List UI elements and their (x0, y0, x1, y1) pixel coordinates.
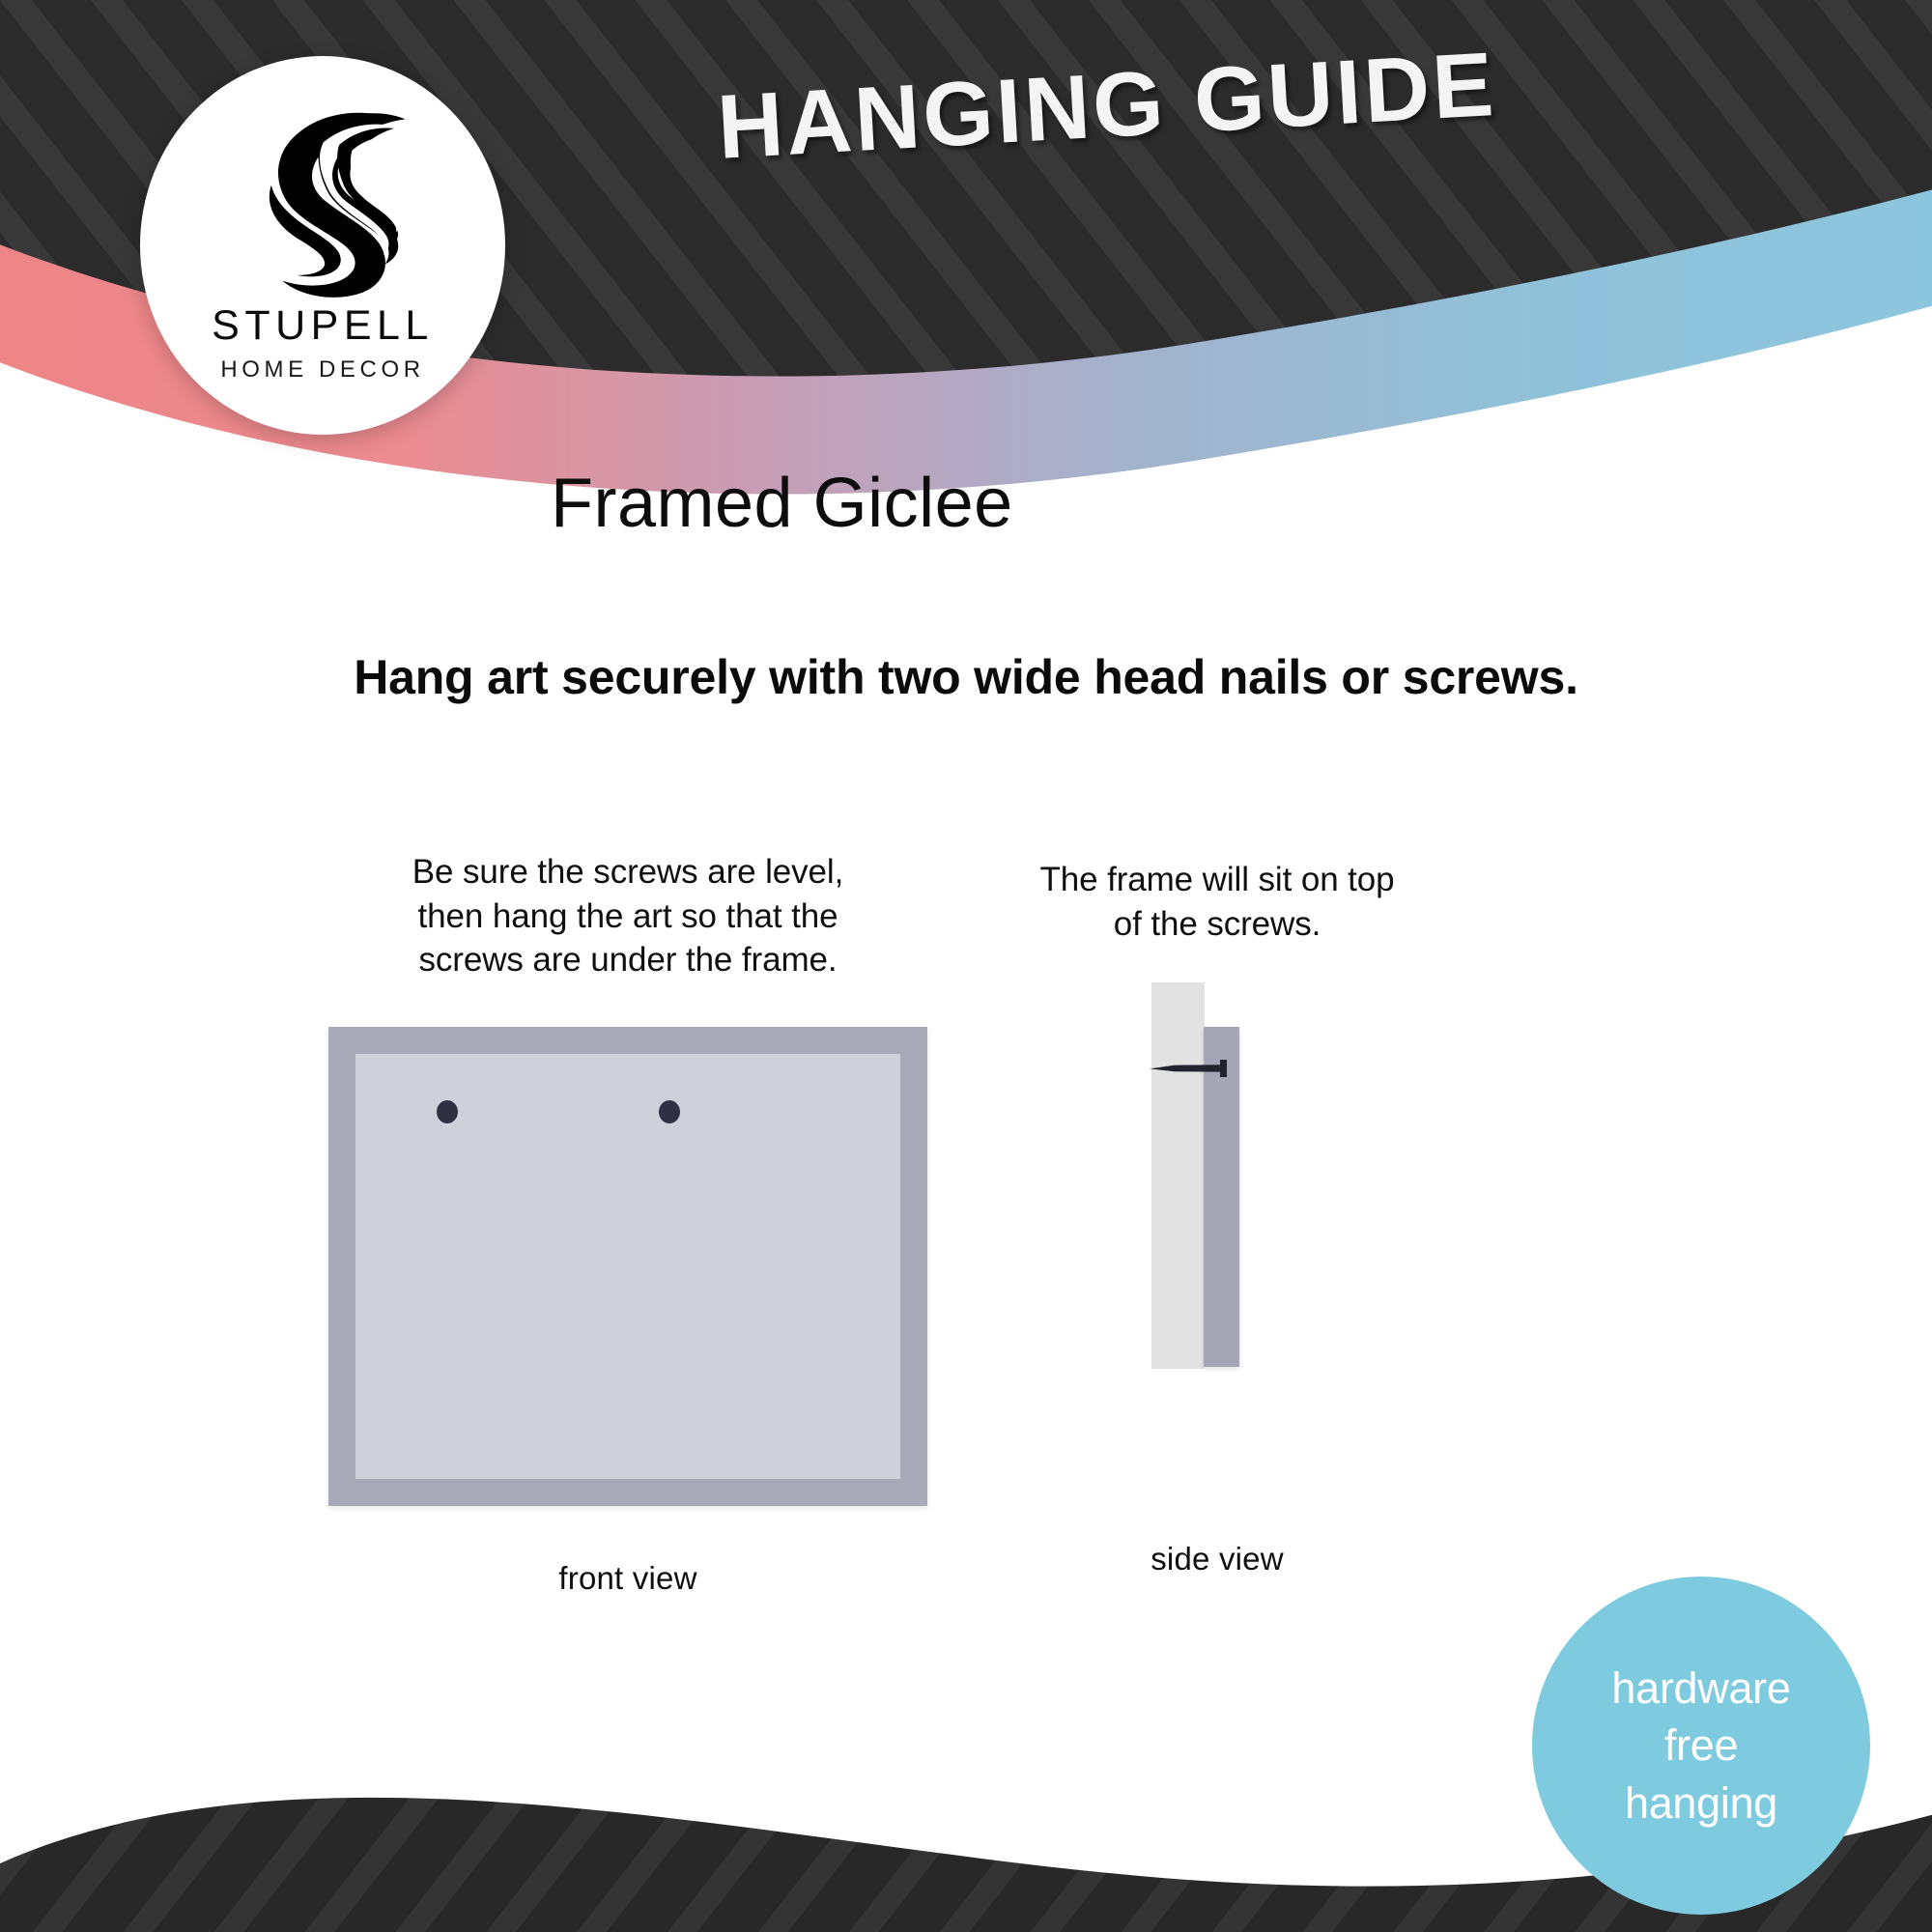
front-view-frame-inner (355, 1054, 900, 1479)
badge-line-1: hardware (1611, 1660, 1790, 1717)
badge-line-3: hanging (1625, 1775, 1777, 1832)
side-view-wall (1151, 982, 1205, 1369)
badge-line-2: free (1664, 1717, 1738, 1774)
nail-pointing-left-icon (1150, 1060, 1238, 1077)
product-name: Framed Giclee (551, 464, 1013, 543)
side-view-diagram (1072, 982, 1362, 1462)
side-view-frame-edge (1204, 1027, 1239, 1367)
stupell-swan-s-logo-icon (231, 99, 414, 301)
side-view-panel: The frame will sit on top of the screws.… (889, 858, 1546, 1577)
side-view-caption-line-2: of the screws. (889, 902, 1546, 947)
side-view-caption-line-1: The frame will sit on top (889, 858, 1546, 902)
side-view-caption: The frame will sit on top of the screws. (889, 858, 1546, 946)
page-title: HANGING GUIDE (715, 32, 1498, 180)
screw-dot-left-icon (437, 1100, 458, 1123)
hanging-guide-page: STUPELL HOME DECOR HANGING GUIDE Framed … (0, 0, 1932, 1932)
brand-subwordmark: HOME DECOR (220, 358, 424, 382)
screw-dot-right-icon (659, 1100, 680, 1123)
hardware-free-hanging-badge: hardware free hanging (1532, 1577, 1870, 1915)
side-view-label: side view (889, 1541, 1546, 1577)
lead-instruction: Hang art securely with two wide head nai… (0, 649, 1932, 705)
front-view-frame-diagram (328, 1027, 927, 1506)
brand-wordmark: STUPELL (212, 305, 434, 347)
brand-logo-badge: STUPELL HOME DECOR (140, 56, 505, 435)
